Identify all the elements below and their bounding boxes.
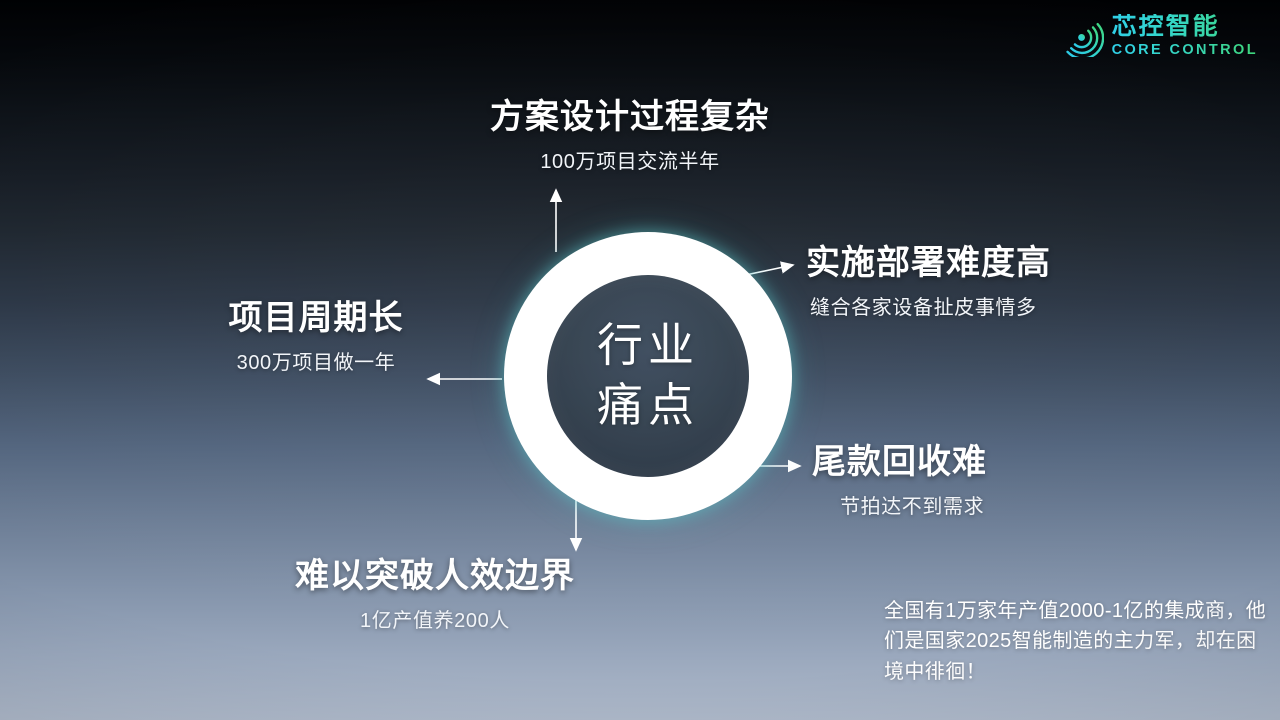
ring-inner-disc: 行业 痛点 bbox=[547, 275, 749, 477]
callout-subtitle: 1亿产值养200人 bbox=[245, 604, 625, 633]
brand-logo: 芯控智能 CORE CONTROL bbox=[1062, 14, 1258, 58]
callout-title: 实施部署难度高 bbox=[806, 245, 1051, 282]
callout-efficiency-limit: 难以突破人效边界 1亿产值养200人 bbox=[245, 558, 625, 633]
signal-waves-icon bbox=[1062, 15, 1104, 57]
logo-wordmark: 芯控智能 CORE CONTROL bbox=[1112, 14, 1258, 58]
callout-subtitle: 节拍达不到需求 bbox=[840, 490, 987, 519]
callout-title: 难以突破人效边界 bbox=[245, 558, 625, 595]
callout-title: 方案设计过程复杂 bbox=[450, 99, 810, 136]
callout-payment-hard: 尾款回收难 节拍达不到需求 bbox=[812, 444, 987, 519]
summary-note: 全国有1万家年产值2000-1亿的集成商，他们是国家2025智能制造的主力军，却… bbox=[884, 596, 1274, 687]
center-label-line2: 痛点 bbox=[597, 376, 699, 436]
callout-design-complex: 方案设计过程复杂 100万项目交流半年 bbox=[450, 99, 810, 174]
callout-subtitle: 100万项目交流半年 bbox=[450, 145, 810, 174]
logo-name-en: CORE CONTROL bbox=[1112, 43, 1258, 58]
callout-deploy-difficult: 实施部署难度高 缝合各家设备扯皮事情多 bbox=[806, 245, 1051, 320]
center-ring: 行业 痛点 bbox=[504, 232, 792, 520]
callout-subtitle: 300万项目做一年 bbox=[196, 346, 436, 375]
callout-title: 尾款回收难 bbox=[812, 444, 987, 481]
center-label: 行业 痛点 bbox=[547, 275, 749, 477]
callout-subtitle: 缝合各家设备扯皮事情多 bbox=[810, 291, 1051, 320]
logo-name-cn: 芯控智能 bbox=[1112, 14, 1258, 39]
slide-canvas: 行业 痛点 方案设计过程复杂 100万项目交流半年 实施部署难度高 缝合各家设备… bbox=[0, 0, 1280, 720]
callout-title: 项目周期长 bbox=[196, 300, 436, 337]
center-label-line1: 行业 bbox=[597, 316, 699, 376]
callout-long-cycle: 项目周期长 300万项目做一年 bbox=[196, 300, 436, 375]
